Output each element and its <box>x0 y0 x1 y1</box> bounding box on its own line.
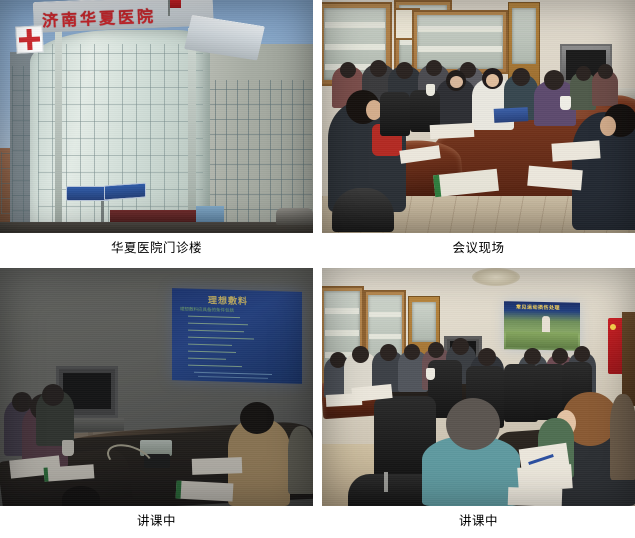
person-center-woman-face <box>450 76 463 88</box>
person-white-coat-face <box>486 74 499 87</box>
slide-bullet-3 <box>188 330 244 333</box>
person-row1-6-head <box>452 338 469 355</box>
person-foreground-blue-head <box>446 398 500 450</box>
projected-slide: 理想敷料 理想敷料应具备的条件包括 <box>172 288 302 384</box>
person-purple-head <box>544 70 564 90</box>
red-cross-icon <box>15 25 43 53</box>
cabinet-left-shelf-1 <box>325 22 385 28</box>
roof-sign-text: 济南华夏医院 <box>42 3 157 32</box>
person-row2-4-head <box>574 346 590 362</box>
gallery-cell-meeting: 会议现场 <box>322 0 635 260</box>
cup-on-table <box>560 96 571 110</box>
caption-meeting: 会议现场 <box>322 240 635 256</box>
parked-car <box>276 208 313 225</box>
person-left-3-head <box>42 384 64 406</box>
cabinet-left-b-shelf-1 <box>369 312 401 317</box>
gallery-cell-lecture-audience: 常见运动损伤处理 <box>322 268 635 538</box>
person-row1-5-head <box>428 342 444 358</box>
person-far-right-1-head <box>576 66 591 81</box>
person-foreground-head <box>62 486 100 506</box>
slide-photo-field <box>506 331 578 349</box>
document-on-table-4 <box>430 123 475 139</box>
chair-leg-1 <box>384 472 388 492</box>
person-far-right-plaid <box>610 394 635 480</box>
person-backrow-2-head <box>370 60 387 77</box>
slide-bullet-1 <box>188 316 240 318</box>
person-foreground-right-face <box>600 116 616 136</box>
gallery-cell-lecture-projector: 理想敷料 理想敷料应具备的条件包括 <box>0 268 314 538</box>
cup-foreground <box>62 440 74 456</box>
slide-bullet-6 <box>188 351 236 353</box>
person-right-teal-head <box>512 68 530 86</box>
chair-3 <box>504 364 538 422</box>
slide-bullet-4 <box>188 337 254 340</box>
street-sign-right <box>104 183 146 201</box>
slide-title: 理想敷料 <box>208 293 248 307</box>
notebook-3 <box>176 481 234 502</box>
person-backrow-3-head <box>396 62 413 79</box>
slide-footnote-1 <box>194 372 272 375</box>
slide-bullet-8 <box>188 365 242 368</box>
roof-flag <box>170 0 181 8</box>
photo-meeting <box>322 0 635 233</box>
person-right-tan-head <box>240 402 274 434</box>
projected-slide: 常见运动损伤处理 <box>504 301 580 351</box>
cup-on-table <box>426 368 435 380</box>
caption-hospital-building: 华夏医院门诊楼 <box>0 240 313 256</box>
room-door-glass <box>412 302 436 342</box>
person-far-right <box>288 426 313 494</box>
gallery-cell-hospital-building: 济南华夏医院 华夏医院门诊楼 <box>0 0 314 260</box>
caption-lecture-projector: 讲课中 <box>0 513 313 529</box>
slide-bullet-2 <box>188 323 248 326</box>
photo-gallery: 济南华夏医院 华夏医院门诊楼 <box>0 0 635 538</box>
cabinet-mid-right-shelf-1 <box>418 26 502 32</box>
slide-footnote-2 <box>198 376 268 379</box>
photo-lecture-projector: 理想敷料 理想敷料应具备的条件包括 <box>0 268 313 506</box>
person-row1-2-head <box>352 346 369 363</box>
photo-hospital-building: 济南华夏医院 <box>0 0 313 233</box>
cabinet-mid-right-shelf-2 <box>418 46 502 52</box>
person-backrow-1-head <box>340 62 356 78</box>
cabinet-left-a-shelf-2 <box>325 330 359 336</box>
wall-cabinet-right <box>622 312 635 406</box>
chair-foreground <box>332 188 394 232</box>
person-row2-1-head <box>478 348 496 366</box>
document-mid-2 <box>326 393 363 407</box>
person-row1-4-head <box>404 344 420 360</box>
cabinet-left-a-shelf-1 <box>325 308 359 314</box>
document-on-table-3 <box>551 140 600 161</box>
person-far-right-2-head <box>598 64 613 79</box>
ceiling-lamp <box>472 268 520 286</box>
chair-left-1 <box>380 92 410 136</box>
flag-stars <box>610 324 616 330</box>
slide-subtitle: 理想敷料应具备的条件包括 <box>180 306 234 314</box>
document-foreground-3 <box>508 487 563 506</box>
street-ground <box>0 222 313 233</box>
cabinet-left-shelf-2 <box>325 44 385 50</box>
tower-pilaster-right <box>188 28 196 233</box>
caption-lecture-audience: 讲课中 <box>322 513 635 529</box>
slide-title: 常见运动损伤处理 <box>516 303 560 311</box>
cup-on-table-2 <box>426 84 435 96</box>
book-stack-blue <box>494 107 529 123</box>
slide-bullet-5 <box>188 344 232 346</box>
cabinet-door-right-glass <box>512 8 536 64</box>
person-row2-2-head <box>524 348 541 365</box>
slide-bullet-7 <box>188 358 226 360</box>
person-backrow-4-head <box>426 60 442 76</box>
cabinet-left-b-shelf-2 <box>369 334 401 339</box>
person-row1-3-head <box>380 344 397 361</box>
tower-pilaster-left <box>55 26 62 233</box>
photo-lecture-audience: 常见运动损伤处理 <box>322 268 635 506</box>
building-right-window-grid <box>204 80 312 225</box>
notebook-4 <box>192 457 243 475</box>
